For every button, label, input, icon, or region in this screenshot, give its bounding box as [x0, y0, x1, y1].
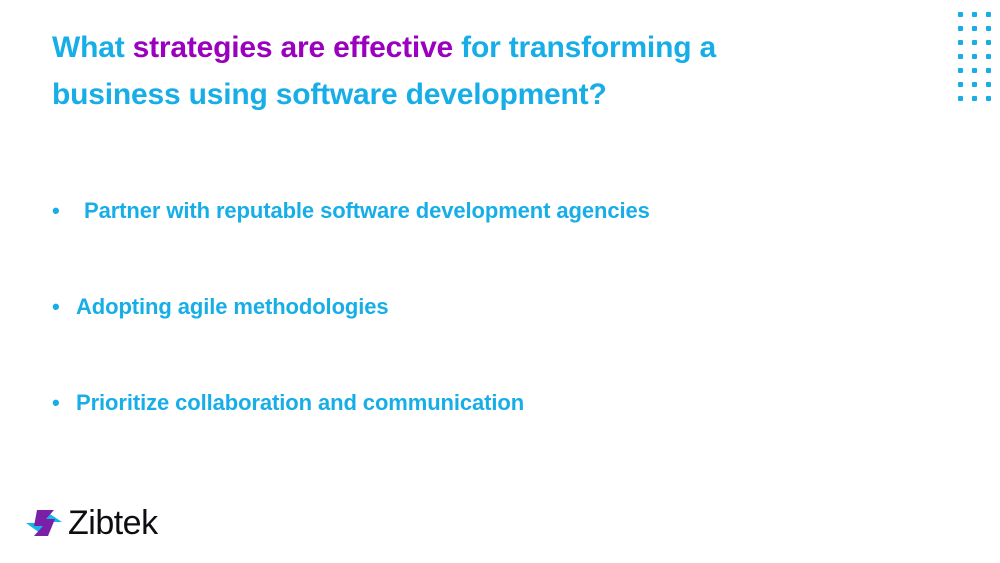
list-item-label: Partner with reputable software developm… — [84, 198, 650, 224]
dot — [972, 26, 977, 31]
list-item-label: Adopting agile methodologies — [76, 294, 389, 320]
list-item: • Adopting agile methodologies — [52, 294, 932, 390]
dot — [986, 26, 991, 31]
dot — [958, 54, 963, 59]
list-item: • Partner with reputable software develo… — [52, 198, 932, 294]
dot — [958, 68, 963, 73]
dot — [986, 12, 991, 17]
slide-title-part-1: What — [52, 31, 133, 64]
dot — [972, 68, 977, 73]
dot — [986, 82, 991, 87]
dot-grid-pattern-icon — [958, 12, 1000, 108]
dot — [972, 82, 977, 87]
slide-title-accent: strategies are effective — [133, 31, 453, 64]
bullet-marker-icon: • — [52, 200, 62, 222]
dot — [986, 54, 991, 59]
dot — [972, 96, 977, 101]
list-item: • Prioritize collaboration and communica… — [52, 390, 932, 486]
dot — [986, 96, 991, 101]
dot — [958, 82, 963, 87]
slide-title: What strategies are effective for transf… — [52, 24, 842, 118]
brand-wordmark: Zibtek — [68, 506, 158, 540]
bullet-marker-icon: • — [52, 392, 62, 414]
dot — [958, 12, 963, 17]
dot — [972, 54, 977, 59]
bullet-marker-icon: • — [52, 296, 62, 318]
dot — [958, 40, 963, 45]
dot — [986, 40, 991, 45]
dot — [972, 40, 977, 45]
dot — [958, 96, 963, 101]
list-item-label: Prioritize collaboration and communicati… — [76, 390, 524, 416]
bullet-list: • Partner with reputable software develo… — [52, 198, 932, 486]
dot — [986, 68, 991, 73]
zibtek-pinwheel-logo-mark-icon — [24, 505, 66, 541]
brand-logo: Zibtek — [24, 505, 158, 541]
slide-canvas: What strategies are effective for transf… — [0, 0, 1000, 563]
dot — [972, 12, 977, 17]
dot — [958, 26, 963, 31]
